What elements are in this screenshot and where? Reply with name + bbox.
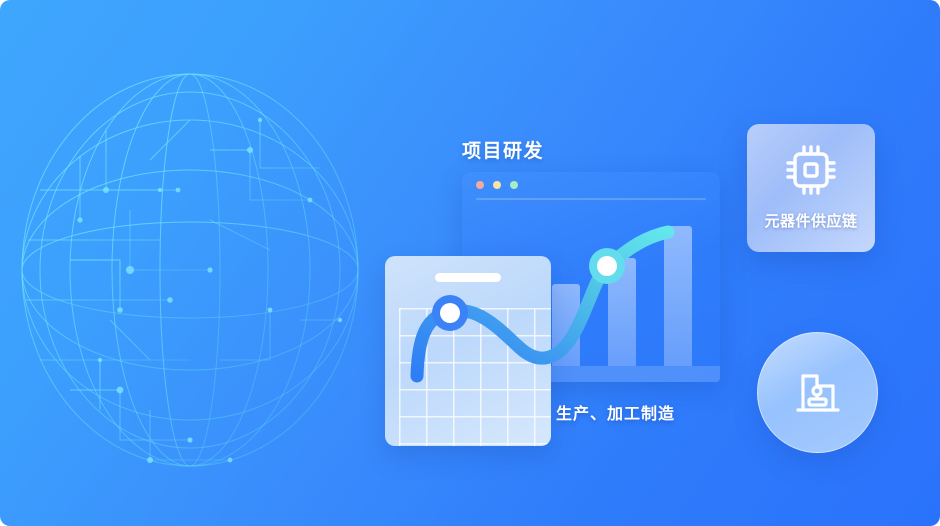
data-point-right	[589, 248, 625, 284]
traffic-light-yellow-icon	[493, 181, 501, 189]
data-point-right-core	[597, 256, 617, 276]
traffic-light-red-icon	[476, 181, 484, 189]
card-title-pill	[435, 273, 501, 282]
bar-2	[552, 284, 580, 366]
promo-banner: 项目研发	[0, 0, 940, 526]
card-gridlines	[399, 308, 551, 446]
component-supply-chain-card[interactable]: 元器件供应链	[747, 124, 875, 252]
traffic-light-green-icon	[510, 181, 518, 189]
component-supply-chain-label: 元器件供应链	[747, 210, 875, 231]
data-point-left-core	[440, 303, 460, 323]
page-title: 项目研发	[462, 136, 544, 163]
manufacturing-label: 生产、加工制造	[556, 400, 675, 424]
cnc-press-machine-icon	[792, 367, 844, 419]
data-point-left	[432, 295, 468, 331]
globe-wireframe-icon	[10, 60, 370, 480]
bar-4	[664, 226, 692, 366]
manufacturing-circle-badge[interactable]	[757, 332, 878, 453]
cpu-chip-icon	[782, 141, 840, 199]
grid-chart-card	[385, 256, 551, 446]
